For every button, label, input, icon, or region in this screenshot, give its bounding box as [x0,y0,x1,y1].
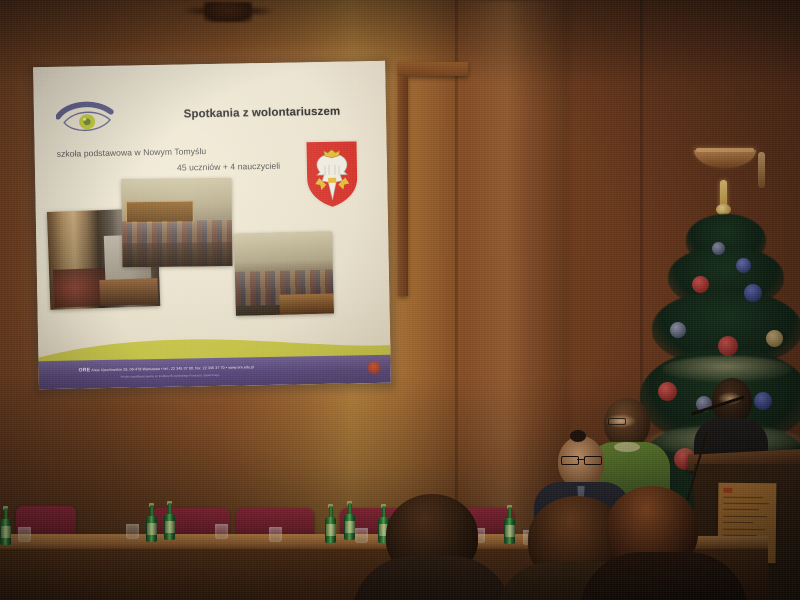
slide-footer-address: Aleje Ujazdowskie 28, 00-478 Warszawa • … [91,365,254,372]
slide-footer-org: ORE [79,367,91,373]
photo-classroom-center [121,178,232,267]
slide-footer-note: Projekt współfinansowany ze środków Euro… [121,371,351,378]
projection-screen: Spotkania z wolontariuszem szkoła podsta… [33,61,391,389]
bauble-blue [736,258,751,273]
slide-subtitle-school: szkoła podstawowa w Nowym Tomyślu [57,146,207,159]
bauble-blue-2 [744,284,762,302]
glass-4 [355,528,368,543]
slide-subtitle-counts: 45 uczniów + 4 nauczycieli [177,161,280,173]
glass-1 [126,524,139,539]
bauble-gold [766,330,783,347]
greater-poland-coat-of-arms-icon [302,137,361,210]
wall-pilaster [398,76,408,296]
presentation-slide: Spotkania z wolontariuszem szkoła podsta… [33,61,391,389]
wall-beam [398,62,468,76]
bauble-silver [712,242,725,255]
man-glasses-icon [561,456,601,463]
glass-3 [269,527,282,542]
bauble-red-2 [718,336,738,356]
man-hair [570,430,586,442]
glass-2 [215,524,228,539]
glass-6 [18,527,31,542]
slide-title: Spotkania z wolontariuszem [152,105,372,121]
woman-glasses-icon [608,418,626,425]
chandelier-icon [178,0,278,30]
ore-eye-logo [56,96,115,139]
photo-classroom-right [234,231,334,315]
bauble-silver-2 [670,322,686,338]
bauble-red [692,276,709,293]
eu-emblem-icon [368,361,381,374]
wall-sconce-icon [694,146,756,172]
photograph-scene: Spotkania z wolontariuszem szkoła podsta… [0,0,800,600]
